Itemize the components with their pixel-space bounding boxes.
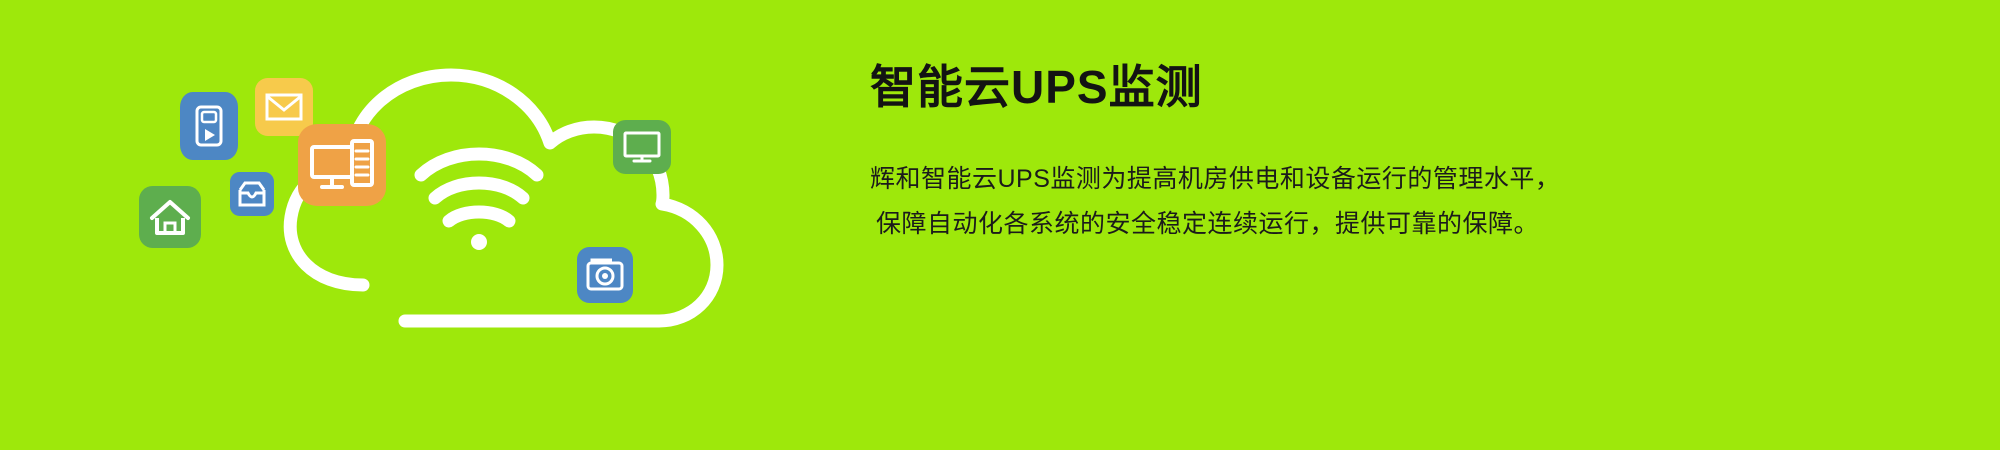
monitor-icon[interactable] [613, 120, 671, 174]
promo-banner: 智能云UPS监测 辉和智能云UPS监测为提高机房供电和设备运行的管理水平， 保障… [0, 0, 2000, 450]
wifi-signal-icon [421, 154, 537, 250]
desktop-server-icon[interactable] [298, 124, 386, 206]
banner-text-block: 智能云UPS监测 辉和智能云UPS监测为提高机房供电和设备运行的管理水平， 保障… [870, 62, 1870, 248]
page-title: 智能云UPS监测 [870, 62, 1870, 113]
inbox-icon[interactable] [230, 172, 274, 216]
home-icon[interactable] [139, 186, 201, 248]
banner-description-line-1: 辉和智能云UPS监测为提高机房供电和设备运行的管理水平， [870, 157, 1870, 203]
wallet-camera-icon[interactable] [577, 247, 633, 303]
banner-description-line-2: 保障自动化各系统的安全稳定连续运行，提供可靠的保障。 [870, 202, 1870, 248]
media-player-icon[interactable] [180, 92, 238, 160]
